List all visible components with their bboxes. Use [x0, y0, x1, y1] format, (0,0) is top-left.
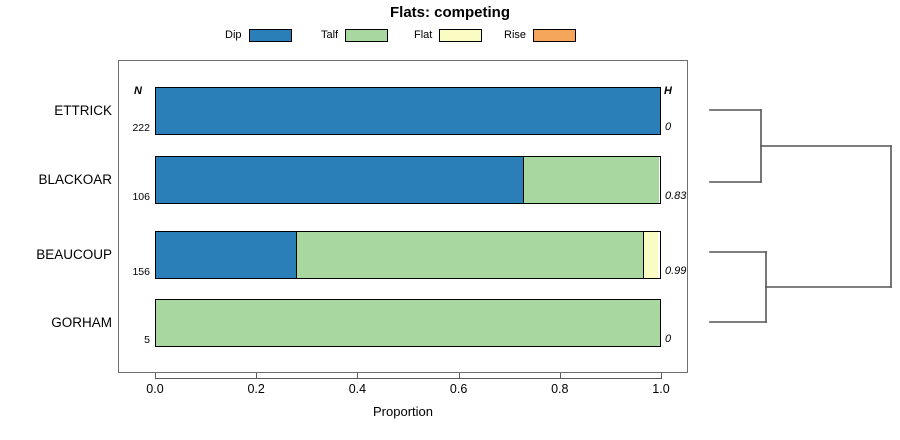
x-tick-label: 0.0: [135, 382, 175, 396]
bar-segment-flat[interactable]: [643, 232, 658, 278]
h-value-gorham: 0: [665, 333, 671, 345]
x-tick: [155, 373, 156, 379]
column-header-h: H: [664, 85, 690, 97]
n-value-gorham: 5: [120, 334, 150, 346]
n-value-ettrick: 222: [120, 122, 150, 134]
bar-segment-dip[interactable]: [156, 157, 524, 203]
dendrogram-svg: [690, 0, 900, 440]
chart-figure: Flats: competing DipTalfFlatRise ETTRICK…: [0, 0, 900, 440]
x-tick: [459, 373, 460, 379]
x-tick: [357, 373, 358, 379]
x-tick-label: 0.4: [337, 382, 377, 396]
n-value-beaucoup: 156: [120, 266, 150, 278]
bar-segment-talf[interactable]: [523, 157, 659, 203]
stacked-bar-beaucoup[interactable]: [155, 231, 661, 279]
stacked-bar-ettrick[interactable]: [155, 87, 661, 135]
bar-segment-talf[interactable]: [296, 232, 644, 278]
dendrogram: [690, 0, 900, 440]
stacked-bar-blackoar[interactable]: [155, 156, 661, 204]
stacked-bar-gorham[interactable]: [155, 299, 661, 347]
n-value-blackoar: 106: [120, 191, 150, 203]
h-value-blackoar: 0.83: [665, 190, 686, 202]
x-tick-label: 0.8: [540, 382, 580, 396]
bar-segment-dip[interactable]: [156, 232, 297, 278]
x-axis-line: [155, 378, 661, 379]
bar-segment-dip[interactable]: [156, 88, 660, 134]
bar-segment-talf[interactable]: [156, 300, 660, 346]
x-tick: [661, 373, 662, 379]
h-value-ettrick: 0: [665, 121, 671, 133]
x-tick: [256, 373, 257, 379]
column-header-n: N: [125, 85, 151, 97]
x-axis-title: Proportion: [118, 404, 688, 419]
x-tick-label: 1.0: [641, 382, 681, 396]
h-value-beaucoup: 0.99: [665, 265, 686, 277]
x-tick: [560, 373, 561, 379]
x-tick-label: 0.2: [236, 382, 276, 396]
x-tick-label: 0.6: [439, 382, 479, 396]
